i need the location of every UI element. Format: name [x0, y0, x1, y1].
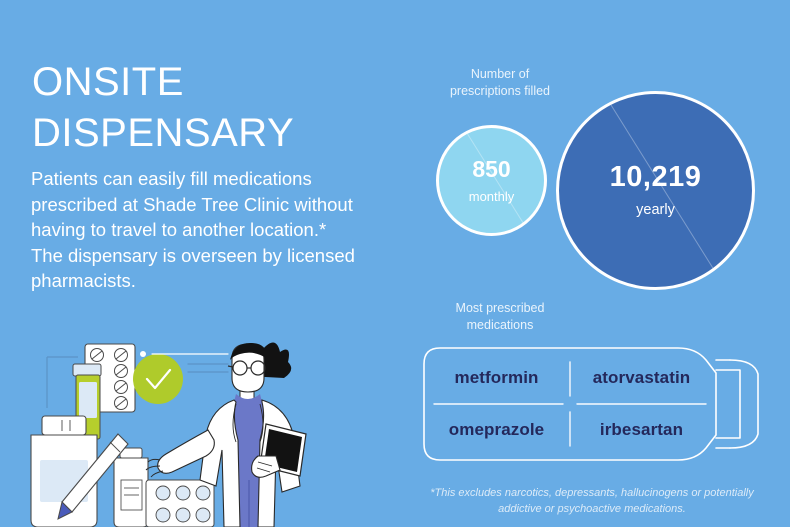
medication-item: omeprazole [424, 404, 569, 456]
stat-circle-yearly: 10,219 yearly [556, 91, 755, 290]
check-circle-icon [133, 354, 183, 404]
medication-item: irbesartan [569, 404, 714, 456]
stat-circle-monthly: 850 monthly [436, 125, 547, 236]
pharmacist-illustration [0, 330, 312, 527]
blister-pack-bottom [146, 480, 214, 527]
footnote-disclaimer: *This excludes narcotics, depressants, h… [398, 486, 786, 518]
stat-unit-monthly: monthly [469, 190, 515, 203]
infographic-canvas: ONSITE DISPENSARY Patients can easily fi… [0, 0, 790, 527]
stat-value-yearly: 10,219 [610, 163, 702, 192]
medication-item: atorvastatin [569, 352, 714, 404]
body-paragraph: Patients can easily fill medications pre… [31, 166, 391, 294]
medication-item: metformin [424, 352, 569, 404]
prescriptions-section-label: Number of prescriptions filled [422, 66, 578, 101]
stat-unit-yearly: yearly [636, 203, 675, 218]
page-title: ONSITE DISPENSARY [32, 57, 294, 159]
stat-value-monthly: 850 [472, 158, 510, 181]
medicine-vial [114, 448, 148, 527]
medications-list: metformin atorvastatin omeprazole irbesa… [424, 352, 714, 456]
medications-section-label: Most prescribed medications [422, 300, 578, 335]
